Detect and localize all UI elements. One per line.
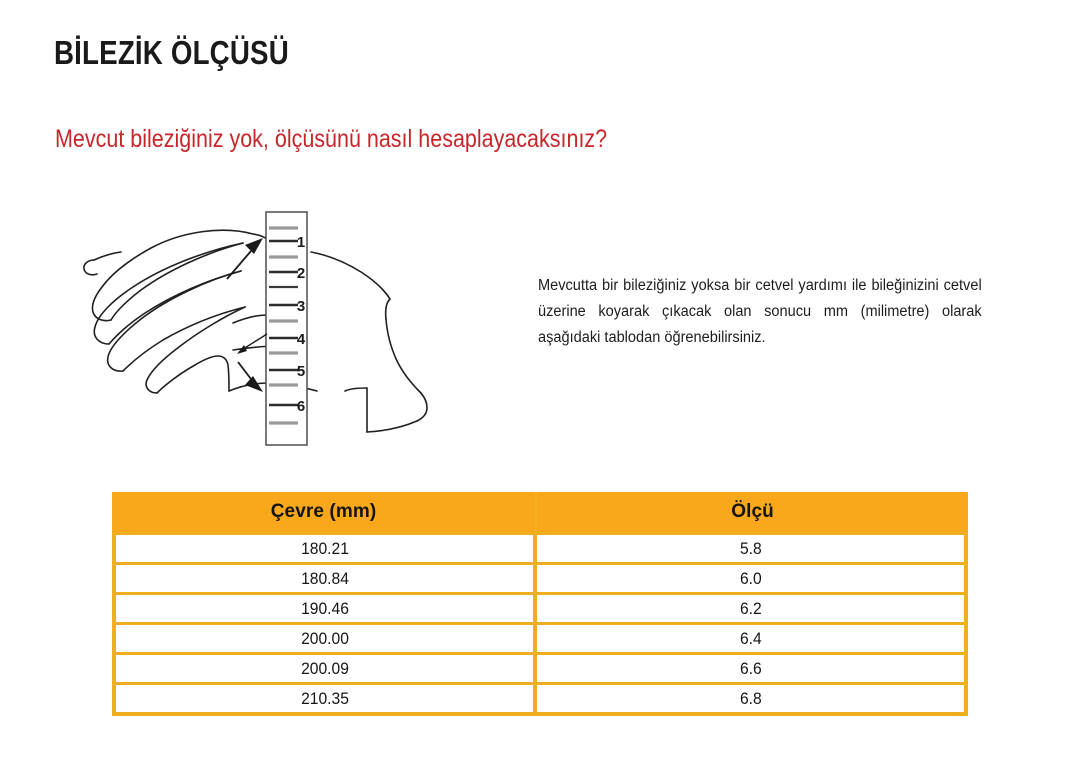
cell-size: 6.4 [537,622,968,652]
arrow-up-right-icon [227,238,263,279]
ruler-label-4: 4 [297,331,306,348]
index-finger-bottom-edge [111,243,243,320]
middle-finger-top-edge [94,243,243,344]
bracelet-size-table: Çevre (mm) Ölçü 180.21 5.8 180.84 6.0 19… [112,492,968,716]
cell-circumference: 180.84 [112,562,537,592]
cell-value: 200.09 [301,659,349,679]
knuckle-nub-edge [94,252,121,260]
table-row: 200.00 6.4 [112,622,968,652]
cell-value: 6.8 [740,689,762,709]
knuckle-nub [84,260,97,275]
little-finger-top-edge [146,307,245,393]
cell-value: 210.35 [301,689,349,709]
arrow-shaft [238,362,251,379]
hand-outline-group [84,230,427,432]
ruler-label-6: 6 [297,398,305,415]
table-row: 200.09 6.6 [112,652,968,682]
cell-circumference: 210.35 [112,682,537,716]
table-column-header-circumference: Çevre (mm) [112,492,537,532]
arrow-down-right-icon [238,362,263,392]
ruler-label-5: 5 [297,363,305,380]
cell-circumference: 190.46 [112,592,537,622]
cell-value: 6.2 [740,599,762,619]
cell-value: 6.6 [740,659,762,679]
cell-size: 6.8 [537,682,968,716]
instructions-paragraph: Mevcutta bir bileziğiniz yoksa bir cetve… [538,273,982,351]
page-title: BİLEZİK ÖLÇÜSÜ [54,36,289,71]
cell-circumference: 180.21 [112,532,537,562]
table-header: Çevre (mm) Ölçü [112,492,968,532]
table-header-row: Çevre (mm) Ölçü [112,492,968,532]
cell-size: 6.6 [537,652,968,682]
arm-elbow-curve [386,299,390,319]
ruler-label-1: 1 [297,234,305,251]
cell-value: 6.0 [740,569,762,589]
cell-value: 180.21 [301,539,349,559]
cell-value: 6.4 [740,629,762,649]
table-row: 190.46 6.2 [112,592,968,622]
cell-value: 5.8 [740,539,762,559]
cell-size: 5.8 [537,532,968,562]
size-guide-page: BİLEZİK ÖLÇÜSÜ Mevcut bileziğiniz yok, ö… [0,0,1080,767]
arm-lower-left [367,421,417,432]
table-body: 180.21 5.8 180.84 6.0 190.46 6.2 200.00 … [112,532,968,716]
cell-circumference: 200.09 [112,652,537,682]
little-finger-bottom-edge [157,365,195,393]
ruler-label-3: 3 [297,298,305,315]
arrow-head [245,238,263,254]
arm-outer-edge-lower [386,319,419,391]
arm-lower-notch [417,391,427,421]
arrow-down-left-icon [237,334,267,354]
arm-inner-notch [345,388,367,391]
table-row: 210.35 6.8 [112,682,968,716]
cell-circumference: 200.00 [112,622,537,652]
cell-value: 200.00 [301,629,349,649]
cell-size: 6.0 [537,562,968,592]
table-row: 180.84 6.0 [112,562,968,592]
cell-value: 180.84 [301,569,349,589]
ruler-label-2: 2 [297,265,305,282]
palm-lower-contour [195,356,229,391]
cell-size: 6.2 [537,592,968,622]
hand-wrist-ruler-illustration: 1 2 3 4 5 6 [55,195,455,465]
table-row: 180.21 5.8 [112,532,968,562]
hand-wrist-ruler-svg: 1 2 3 4 5 6 [55,195,455,465]
arm-outer-edge-upper [311,252,390,299]
arrow-shaft [227,251,251,279]
cell-value: 190.46 [301,599,349,619]
table-column-header-size: Ölçü [537,492,968,532]
page-subtitle-question: Mevcut bileziğiniz yok, ölçüsünü nasıl h… [55,126,607,152]
